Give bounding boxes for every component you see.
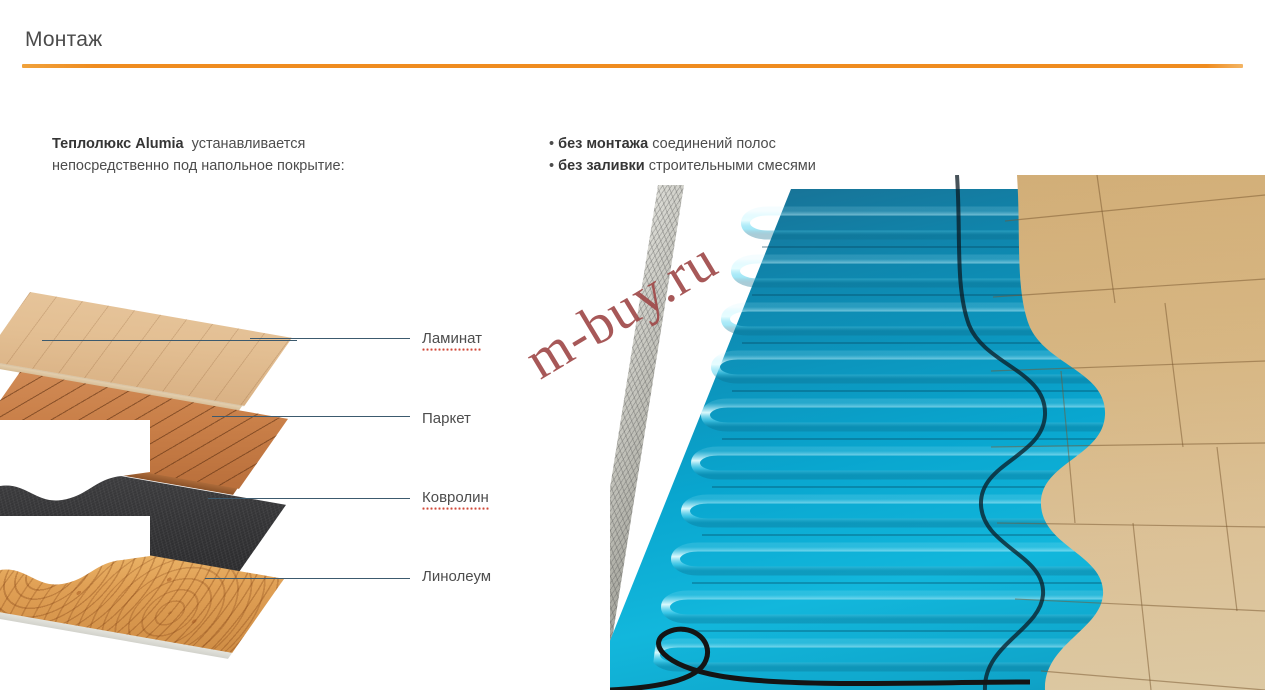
linoleum-surface [0,532,284,653]
leader-line-parket [212,416,410,417]
parquet-sample [20,372,310,472]
linoleum-sample [16,532,326,647]
intro-paragraph: Теплолюкс Alumia устанавливается непосре… [52,133,452,177]
intro-line1-rest: устанавливается [192,136,306,152]
intro-line2: непосредственно под напольное покрытие: [52,158,345,174]
product-name: Теплолюкс Alumia [52,136,184,152]
leader-line-linoleum [205,578,410,579]
slide: Монтаж Теплолюкс Alumia устанавливается … [0,0,1265,690]
list-item: • без заливки строительными смесями [549,155,949,177]
bullet-1-rest: соединений полос [652,136,776,152]
title-underline-rule [22,64,1243,68]
leader-line-laminat [42,340,297,341]
bullet-dot-icon: • [549,158,554,174]
feature-bullet-list: • без монтажа соединений полос • без зал… [549,133,949,177]
power-cable [610,564,1030,690]
bullet-1-bold: без монтажа [558,136,648,152]
label-laminat: Ламинат [422,330,482,351]
label-kovrolin: Ковролин [422,489,489,510]
label-parket: Паркет [422,410,471,427]
heating-mat-photo [610,175,1265,690]
leader-line-laminat-2 [250,338,410,339]
label-linoleum: Линолеум [422,568,491,585]
bullet-2-bold: без заливки [558,158,645,174]
page-title: Монтаж [25,28,102,52]
list-item: • без монтажа соединений полос [549,133,949,155]
leader-line-kovrolin [208,498,410,499]
bullet-2-rest: строительными смесями [649,158,816,174]
bullet-dot-icon: • [549,136,554,152]
laminate-sample [30,292,300,382]
